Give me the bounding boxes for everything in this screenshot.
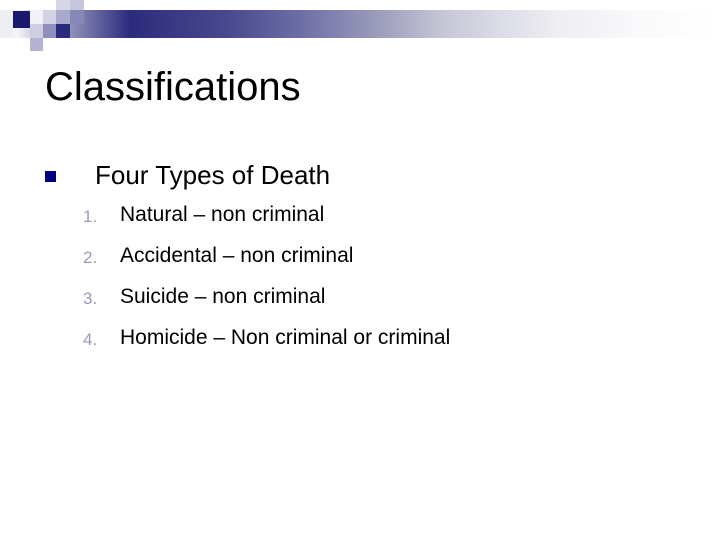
mosaic-square <box>0 10 13 38</box>
list-item-label: Accidental – non criminal <box>120 244 353 267</box>
list-item-number: 2. <box>83 247 109 269</box>
mosaic-square <box>43 10 56 24</box>
numbered-list: 1.Natural – non criminal2.Accidental – n… <box>40 200 690 364</box>
slide-canvas: Classifications Four Types of Death 1.Na… <box>0 0 720 540</box>
mosaic-square <box>43 24 56 38</box>
list-item: 3.Suicide – non criminal <box>40 282 690 323</box>
list-item-number: 3. <box>83 288 109 310</box>
gradient-bar <box>0 10 720 38</box>
mosaic-square <box>30 24 43 38</box>
mosaic-square <box>13 11 30 28</box>
list-item-number: 4. <box>83 329 109 351</box>
mosaic-square <box>70 10 84 24</box>
mosaic-square <box>30 51 43 61</box>
list-item-number: 1. <box>83 206 109 228</box>
list-item-label: Homicide – Non criminal or criminal <box>120 326 450 349</box>
list-item: 1.Natural – non criminal <box>40 200 690 241</box>
bullet-item-level1-label: Four Types of Death <box>95 160 330 190</box>
mosaic-square <box>30 10 43 24</box>
page-title: Classifications <box>45 63 665 111</box>
mosaic-square <box>56 0 70 10</box>
mosaic-square <box>56 24 70 38</box>
list-item-label: Suicide – non criminal <box>120 285 325 308</box>
list-item: 4.Homicide – Non criminal or criminal <box>40 323 690 364</box>
mosaic-square <box>70 0 84 10</box>
slide-body: Four Types of Death 1.Natural – non crim… <box>40 158 690 364</box>
list-item: 2.Accidental – non criminal <box>40 241 690 282</box>
list-item-label: Natural – non criminal <box>120 203 324 226</box>
bullet-item-level1: Four Types of Death <box>40 158 690 196</box>
header-decoration <box>0 0 720 56</box>
mosaic-square <box>56 10 70 24</box>
mosaic-square <box>0 38 13 48</box>
square-bullet-icon <box>45 171 56 182</box>
mosaic-square <box>30 38 43 51</box>
mosaic-square <box>0 0 13 10</box>
